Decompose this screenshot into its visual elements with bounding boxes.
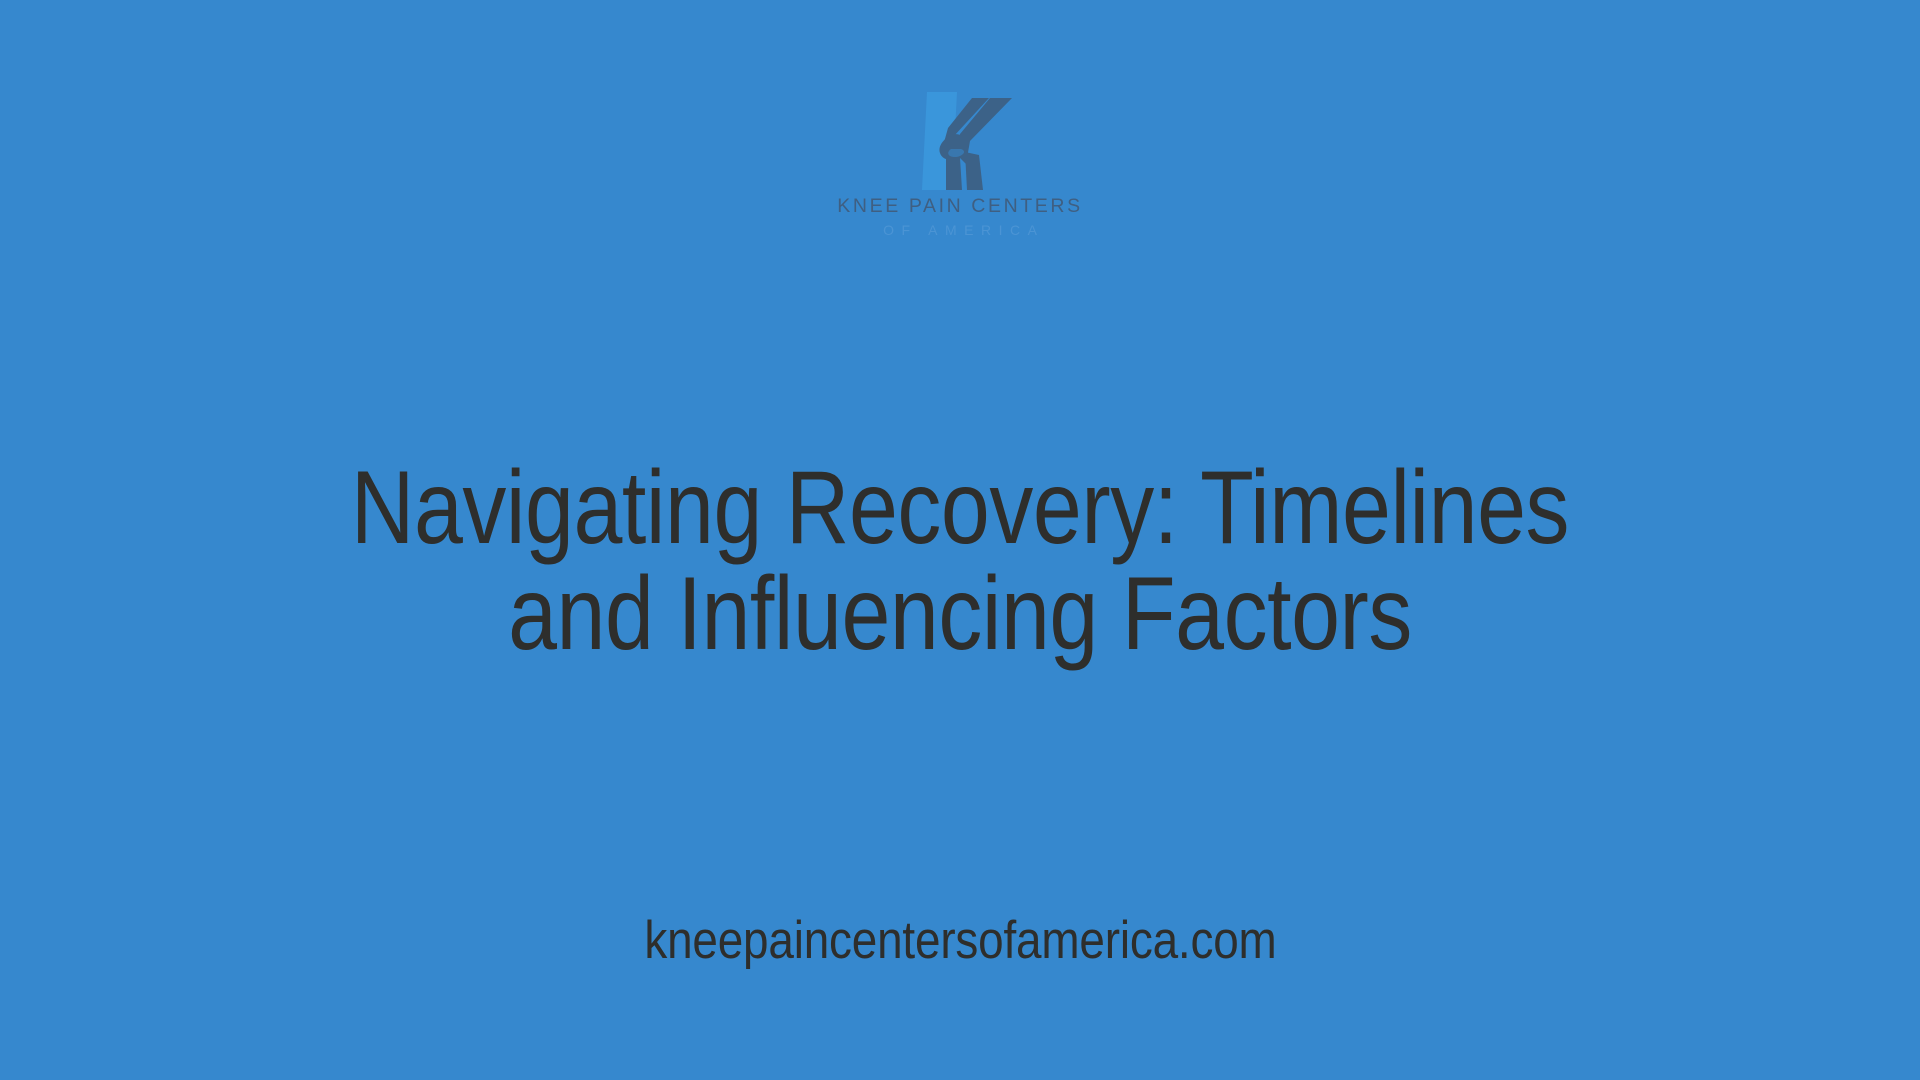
brand-logo: KNEE PAIN CENTERS OF AMERICA bbox=[0, 92, 1920, 237]
slide-title: Navigating Recovery: Timelines and Influ… bbox=[0, 455, 1920, 667]
logo-subwordmark: OF AMERICA bbox=[876, 223, 1045, 237]
footer-website-url: kneepaincentersofamerica.com bbox=[0, 912, 1920, 970]
footer-website-url-text: kneepaincentersofamerica.com bbox=[644, 912, 1276, 970]
presentation-slide: KNEE PAIN CENTERS OF AMERICA Navigating … bbox=[0, 0, 1920, 1080]
slide-title-line-2: and Influencing Factors bbox=[149, 561, 1771, 667]
slide-title-line-1: Navigating Recovery: Timelines bbox=[149, 455, 1771, 561]
logo-wordmark: KNEE PAIN CENTERS bbox=[837, 197, 1082, 217]
knee-joint-k-logo-mark bbox=[894, 92, 1026, 190]
